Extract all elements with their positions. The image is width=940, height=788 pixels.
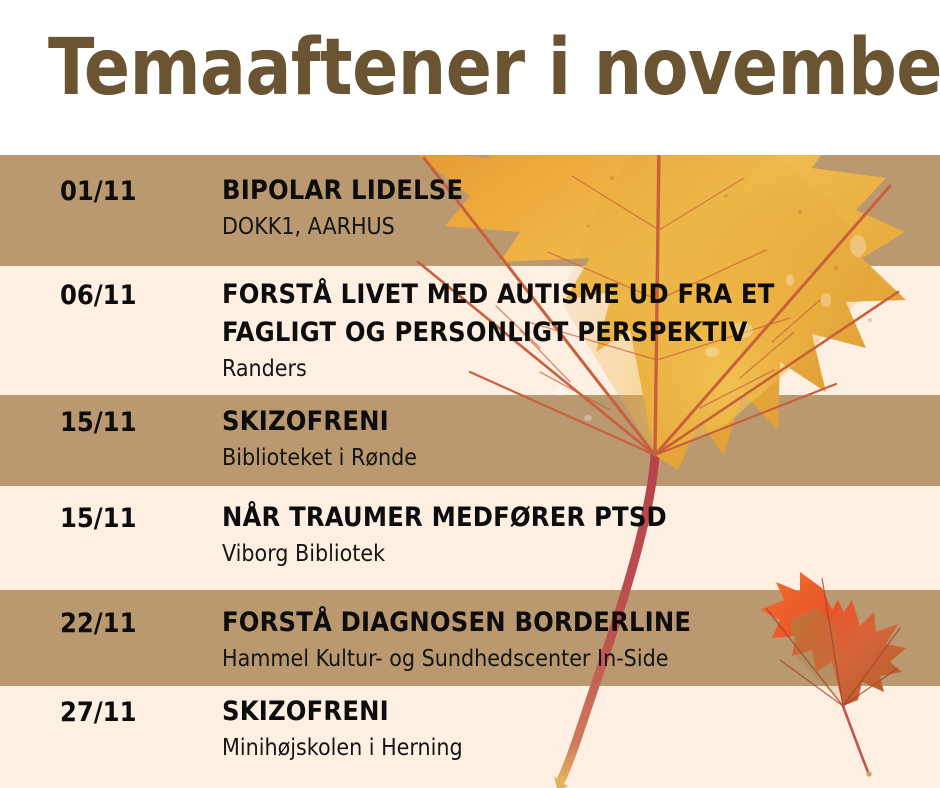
event-date: 15/11	[60, 503, 210, 534]
event-title: FORSTÅ DIAGNOSEN BORDERLINE	[222, 604, 930, 642]
event-date: 01/11	[60, 176, 210, 207]
event-title: BIPOLAR LIDELSE	[222, 172, 930, 210]
event-date: 06/11	[60, 280, 210, 311]
event-date: 22/11	[60, 608, 210, 639]
event-location: Biblioteket i Rønde	[222, 443, 930, 473]
event-title: SKIZOFRENI	[222, 693, 930, 731]
event-date: 15/11	[60, 407, 210, 438]
event-location: Minihøjskolen i Herning	[222, 733, 930, 763]
poster-header: Temaaftener i november	[0, 0, 940, 155]
event-location: DOKK1, AARHUS	[222, 212, 930, 242]
schedule-row[interactable]: 27/11SKIZOFRENIMinihøjskolen i Herning	[0, 686, 940, 788]
poster-canvas: Temaaftener i november 01/11BIPOLAR LIDE…	[0, 0, 940, 788]
event-body: SKIZOFRENIBiblioteket i Rønde	[222, 403, 930, 473]
page-title: Temaaftener i november	[48, 26, 940, 110]
event-body: FORSTÅ LIVET MED AUTISME UD FRA ET FAGLI…	[222, 276, 930, 384]
schedule-row[interactable]: 06/11FORSTÅ LIVET MED AUTISME UD FRA ET …	[0, 266, 940, 395]
event-location: Viborg Bibliotek	[222, 539, 930, 569]
event-body: FORSTÅ DIAGNOSEN BORDERLINEHammel Kultur…	[222, 604, 930, 674]
event-title: SKIZOFRENI	[222, 403, 930, 441]
schedule-row[interactable]: 01/11BIPOLAR LIDELSEDOKK1, AARHUS	[0, 155, 940, 266]
schedule-row[interactable]: 22/11FORSTÅ DIAGNOSEN BORDERLINEHammel K…	[0, 590, 940, 686]
event-title: NÅR TRAUMER MEDFØRER PTSD	[222, 499, 930, 537]
event-title: FORSTÅ LIVET MED AUTISME UD FRA ET FAGLI…	[222, 276, 930, 352]
event-body: BIPOLAR LIDELSEDOKK1, AARHUS	[222, 172, 930, 242]
schedule-row[interactable]: 15/11SKIZOFRENIBiblioteket i Rønde	[0, 395, 940, 486]
event-body: SKIZOFRENIMinihøjskolen i Herning	[222, 693, 930, 763]
event-location: Hammel Kultur- og Sundhedscenter In-Side	[222, 644, 930, 674]
event-location: Randers	[222, 354, 930, 384]
event-body: NÅR TRAUMER MEDFØRER PTSDViborg Bibliote…	[222, 499, 930, 569]
schedule-row[interactable]: 15/11NÅR TRAUMER MEDFØRER PTSDViborg Bib…	[0, 486, 940, 590]
event-date: 27/11	[60, 697, 210, 728]
